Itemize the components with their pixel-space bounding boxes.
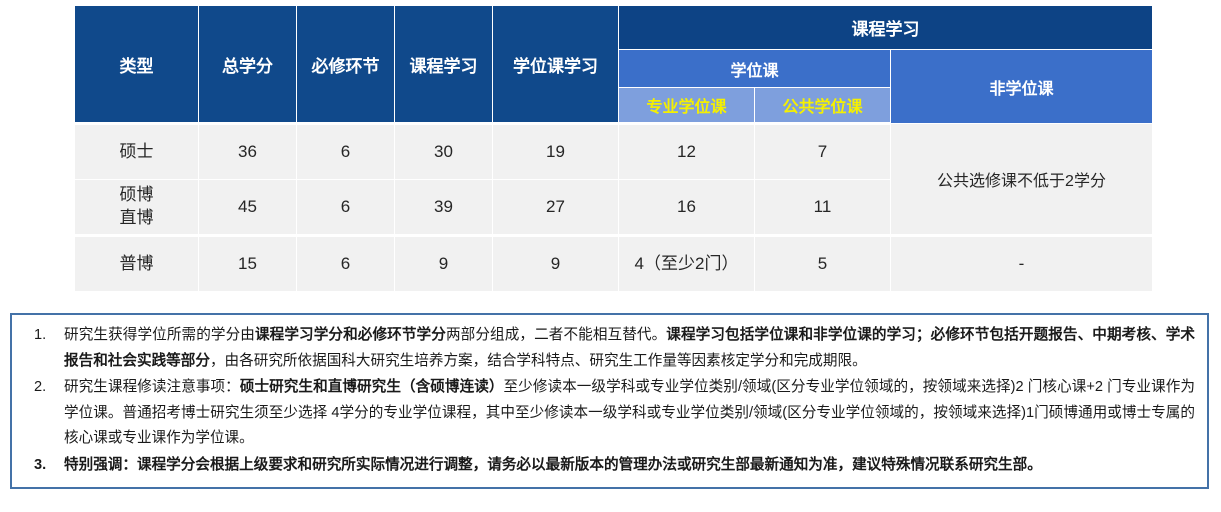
note-segment: 硕士研究生和直博研究生（含硕博连读）: [240, 379, 504, 395]
note-number: 3.: [34, 453, 58, 479]
table-row: 硕士 36 6 30 19 12 7 公共选修课不低于2学分: [75, 124, 1153, 180]
header-required-modules: 必修环节: [297, 6, 395, 124]
note-number: 2.: [34, 375, 58, 401]
notes-panel: 1.研究生获得学位所需的学分由课程学习学分和必修环节学分两部分组成，二者不能相互…: [10, 313, 1209, 489]
cell-non-degree-course: -: [891, 236, 1153, 292]
header-non-degree-course: 非学位课: [891, 50, 1153, 124]
note-number: 1.: [34, 323, 58, 349]
note-segment: 研究生获得学位所需的学分由: [64, 327, 255, 343]
header-degree-course-study: 学位课学习: [493, 6, 619, 124]
cell-course-study: 39: [395, 180, 493, 236]
cell-major-degree-course: 4（至少2门）: [619, 236, 755, 292]
cell-total-credits: 45: [199, 180, 297, 236]
cell-course-study: 30: [395, 124, 493, 180]
cell-total-credits: 36: [199, 124, 297, 180]
note-item: 2.研究生课程修读注意事项：硕士研究生和直博研究生（含硕博连读）至少修读本一级学…: [26, 375, 1195, 452]
cell-degree-course-study: 27: [493, 180, 619, 236]
cell-course-study: 9: [395, 236, 493, 292]
cell-total-credits: 15: [199, 236, 297, 292]
note-segment: 特别强调：课程学分会根据上级要求和研究所实际情况进行调整，请务必以最新版本的管理…: [64, 457, 1042, 473]
table-row: 普博 15 6 9 9 4（至少2门） 5 -: [75, 236, 1153, 292]
cell-type: 硕士: [75, 124, 199, 180]
header-total-credits: 总学分: [199, 6, 297, 124]
header-public-degree-course: 公共学位课: [755, 88, 891, 124]
note-item: 3.特别强调：课程学分会根据上级要求和研究所实际情况进行调整，请务必以最新版本的…: [26, 453, 1195, 479]
cell-degree-course-study: 19: [493, 124, 619, 180]
header-row-tier1: 类型 总学分 必修环节 课程学习 学位课学习 课程学习: [75, 6, 1153, 50]
header-course-study-group: 课程学习: [619, 6, 1153, 50]
cell-type: 普博: [75, 236, 199, 292]
cell-major-degree-course: 16: [619, 180, 755, 236]
cell-public-degree-course: 11: [755, 180, 891, 236]
note-segment: 课程学习学分和必修环节学分: [255, 327, 446, 343]
header-degree-course: 学位课: [619, 50, 891, 88]
cell-required-modules: 6: [297, 236, 395, 292]
cell-required-modules: 6: [297, 180, 395, 236]
cell-required-modules: 6: [297, 124, 395, 180]
header-type: 类型: [75, 6, 199, 124]
note-segment: 研究生课程修读注意事项：: [64, 379, 240, 395]
cell-public-degree-course: 5: [755, 236, 891, 292]
credits-requirements-table: 类型 总学分 必修环节 课程学习 学位课学习 课程学习 学位课 非学位课 专业学…: [74, 5, 1153, 292]
header-course-study: 课程学习: [395, 6, 493, 124]
note-item: 1.研究生获得学位所需的学分由课程学习学分和必修环节学分两部分组成，二者不能相互…: [26, 323, 1195, 374]
header-major-degree-course: 专业学位课: [619, 88, 755, 124]
cell-major-degree-course: 12: [619, 124, 755, 180]
note-segment: ，由各研究所依据国科大研究生培养方案，结合学科特点、研究生工作量等因素核定学分和…: [210, 353, 867, 369]
notes-list: 1.研究生获得学位所需的学分由课程学习学分和必修环节学分两部分组成，二者不能相互…: [26, 323, 1195, 478]
cell-type: 硕博 直博: [75, 180, 199, 236]
note-segment: 两部分组成，二者不能相互替代。: [446, 327, 666, 343]
cell-non-degree-merged-note: 公共选修课不低于2学分: [891, 124, 1153, 236]
cell-degree-course-study: 9: [493, 236, 619, 292]
table-header: 类型 总学分 必修环节 课程学习 学位课学习 课程学习 学位课 非学位课 专业学…: [75, 6, 1153, 124]
table-body: 硕士 36 6 30 19 12 7 公共选修课不低于2学分 硕博 直博 45 …: [75, 124, 1153, 292]
cell-public-degree-course: 7: [755, 124, 891, 180]
